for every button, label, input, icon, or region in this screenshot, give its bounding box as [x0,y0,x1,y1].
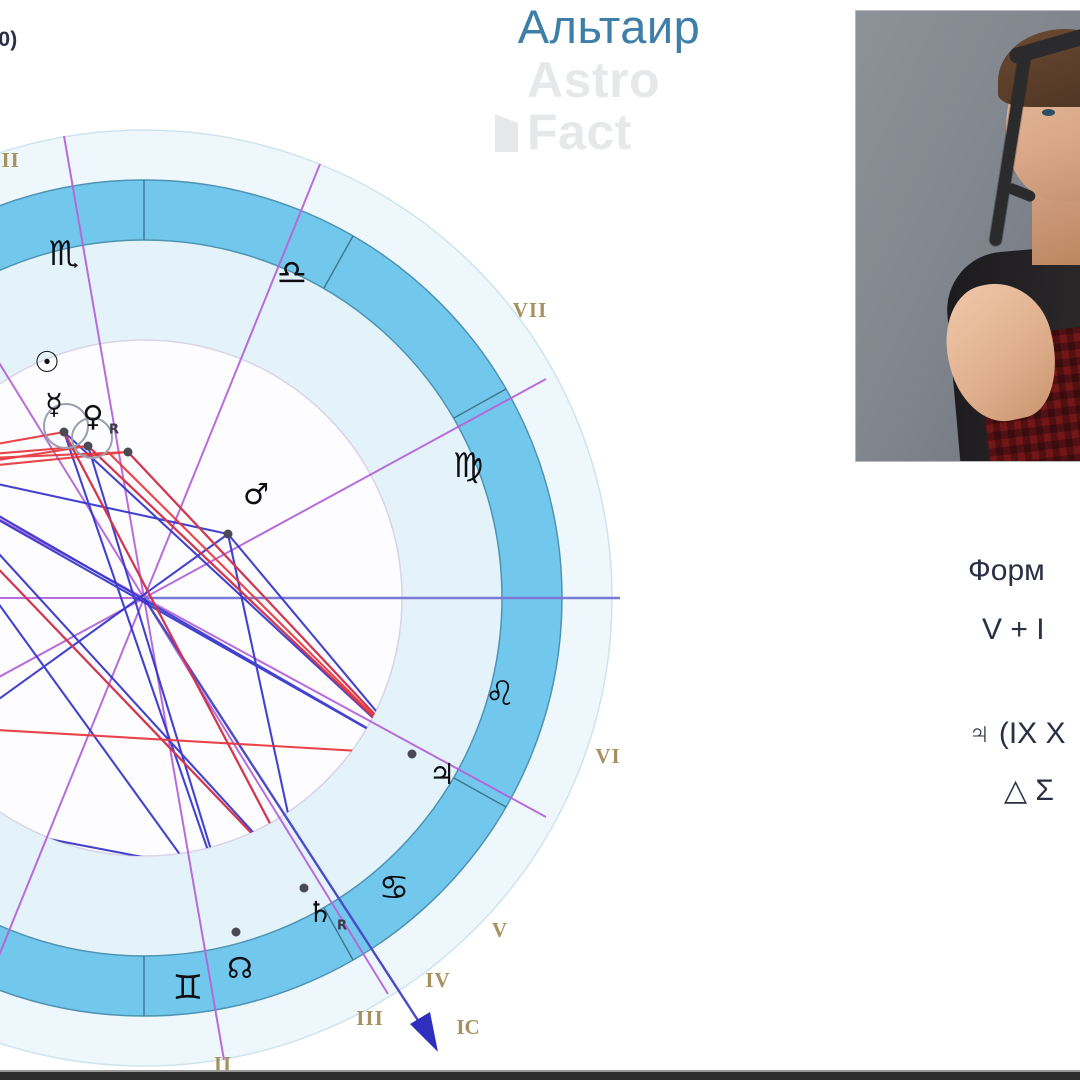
formula-jupiter: ♃ (IX X [968,719,1080,750]
formula-title: Форм [968,556,1080,587]
formula-aspect: △ Σ [968,776,1080,807]
planet-venus-retrograde: R [109,423,119,438]
planet-jupiter: ♃ [429,757,455,791]
natal-chart-wheel[interactable]: ♐ ♏ ♎ ♍ ♌ ♋ ♊ ♉ IX VIII VII VI V IV III … [0,122,620,1074]
ic-arrow-icon [410,1012,438,1052]
portrait-photo [855,10,1080,462]
house-iv: IV [425,968,450,992]
ic-label: IC [456,1015,479,1039]
planet-mercury: ☿ [45,387,63,421]
house-iii: III [356,1006,384,1030]
formula-block: Форм V + I ♃ (IX X △ Σ [968,556,1080,806]
zodiac-leo: ♌ [485,674,515,714]
birth-data-line-1: 0 (+03:00) [0,24,17,57]
house-vi: VI [595,744,620,768]
zodiac-virgo: ♍ [453,446,483,486]
slide-canvas: 0 (+03:00) -40°31') Альтаир Astro Fact [0,0,1080,1080]
bottom-frame-strip [0,1072,1080,1080]
planet-saturn-retrograde: R [337,919,347,934]
house-vii: VII [513,298,548,322]
photo-eye-left [1042,109,1055,116]
birth-data-line-2: -40°31') [0,57,17,90]
planet-saturn: ♄ [307,895,333,929]
planet-north-node: ☊ [227,951,253,985]
planet-venus: ♀ [82,399,103,433]
zodiac-gemini: ♊ [173,968,203,1008]
house-viii: VIII [0,148,20,172]
zodiac-scorpio: ♏ [49,234,79,274]
planet-sun: ☉ [34,345,60,379]
watermark-astro: Astro [527,54,660,106]
planet-mars: ♂ [243,477,269,511]
birth-data-block: 0 (+03:00) -40°31') [0,24,17,89]
formula-sum: V + I [968,615,1080,646]
zodiac-libra: ♎ [277,253,307,293]
house-v: V [492,918,508,942]
zodiac-cancer: ♋ [379,868,409,908]
brand-title: Альтаир [489,2,729,52]
